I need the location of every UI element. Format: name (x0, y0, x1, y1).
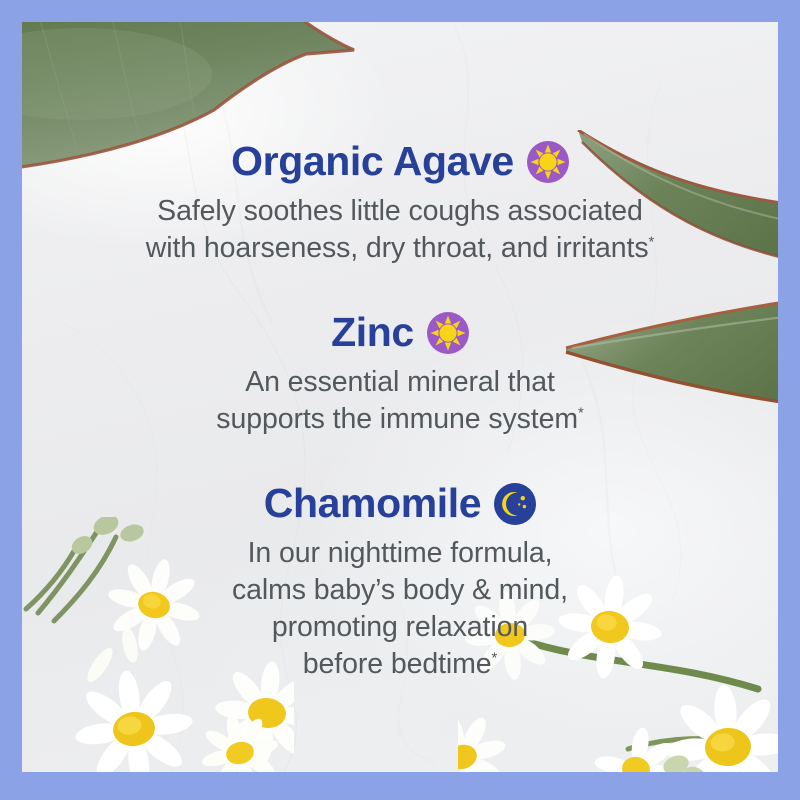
description-line: with hoarseness, dry throat, and irritan… (22, 230, 778, 267)
ingredient-heading-zinc: Zinc (331, 311, 414, 354)
ingredient-section-organic-agave: Organic Agave (22, 140, 778, 267)
description-line: before bedtime* (22, 646, 778, 683)
heading-row-chamomile: Chamomile (22, 482, 778, 525)
description-line-text: before bedtime (303, 648, 492, 680)
ingredient-heading-chamomile: Chamomile (264, 482, 481, 525)
footnote-marker: * (578, 406, 584, 422)
description-line: supports the immune system* (22, 401, 778, 438)
ingredient-benefits-panel: Organic Agave (0, 0, 800, 800)
description-line: calms baby’s body & mind, (22, 572, 778, 609)
benefits-content: Organic Agave (22, 22, 778, 772)
footnote-marker: * (492, 651, 498, 667)
description-line: Safely soothes little coughs associated (22, 193, 778, 230)
ingredient-description-zinc: An essential mineral that supports the i… (22, 364, 778, 438)
description-line: In our nighttime formula, (22, 535, 778, 572)
description-line: promoting relaxation (22, 609, 778, 646)
sun-icon (427, 312, 469, 354)
marble-background: Organic Agave (22, 22, 778, 772)
ingredient-section-zinc: Zinc (22, 311, 778, 438)
footnote-marker: * (649, 235, 655, 251)
ingredient-description-chamomile: In our nighttime formula, calms baby’s b… (22, 535, 778, 683)
sun-icon (527, 141, 569, 183)
heading-row-zinc: Zinc (22, 311, 778, 354)
ingredient-description-organic-agave: Safely soothes little coughs associated … (22, 193, 778, 267)
description-line: An essential mineral that (22, 364, 778, 401)
moon-icon (494, 483, 536, 525)
description-line-text: supports the immune system (216, 403, 578, 435)
description-line-text: with hoarseness, dry throat, and irritan… (146, 232, 649, 264)
ingredient-section-chamomile: Chamomile In our nighttime formula, calm… (22, 482, 778, 683)
ingredient-heading-organic-agave: Organic Agave (231, 140, 514, 183)
heading-row-organic-agave: Organic Agave (22, 140, 778, 183)
